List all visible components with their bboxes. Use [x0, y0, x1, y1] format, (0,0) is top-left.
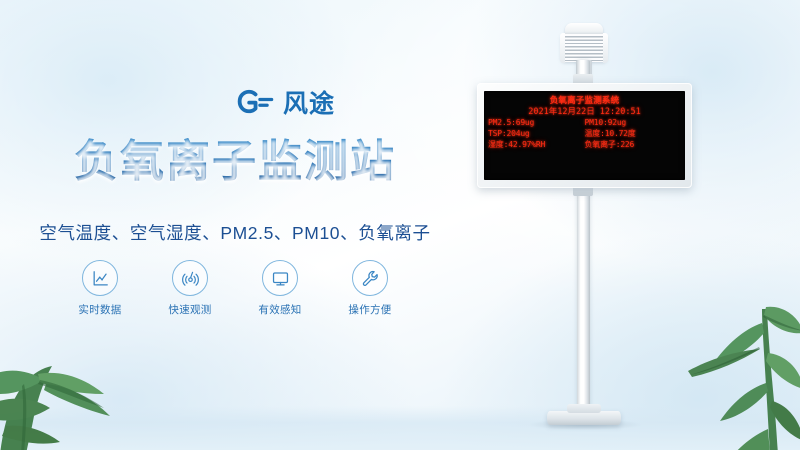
feature-item-realtime-data[interactable]: 实时数据 — [71, 260, 129, 317]
feature-label: 操作方便 — [341, 302, 399, 317]
wrench-icon — [352, 260, 388, 296]
radar-signal-icon — [172, 260, 208, 296]
brand-name: 风途 — [283, 92, 335, 117]
led-value-pm25: PM2.5:69ug — [488, 118, 585, 127]
led-readout-rows: PM2.5:69ug PM10:92ug TSP:204ug 温度:10.72度… — [488, 117, 681, 150]
feature-label: 快速观测 — [161, 302, 219, 317]
led-display-frame: 负氧离子监测系统 2021年12月22日 12:20:51 PM2.5:69ug… — [477, 83, 692, 188]
led-value-pm10: PM10:92ug — [585, 118, 682, 127]
feature-list: 实时数据 快速观测 — [0, 260, 470, 317]
feature-item-fast-observation[interactable]: 快速观测 — [161, 260, 219, 317]
led-value-temperature: 温度:10.72度 — [585, 128, 682, 139]
monitor-screen-icon — [262, 260, 298, 296]
led-value-negative-oxygen-ions: 负氧离子:226 — [585, 139, 682, 150]
led-value-humidity: 湿度:42.97%RH — [488, 139, 585, 150]
base-plate-icon — [547, 411, 621, 425]
feature-item-effective-sensing[interactable]: 有效感知 — [251, 260, 309, 317]
monitoring-station-product: 负氧离子监测系统 2021年12月22日 12:20:51 PM2.5:69ug… — [455, 0, 800, 450]
feature-label: 有效感知 — [251, 302, 309, 317]
poster-stage: 风途 负氧离子监测站 空气温度、空气湿度、PM2.5、PM10、负氧离子 实时数… — [0, 0, 800, 450]
led-readout-row: 湿度:42.97%RH 负氧离子:226 — [488, 139, 681, 150]
page-title: 负氧离子监测站 — [0, 138, 470, 186]
page-subtitle: 空气温度、空气湿度、PM2.5、PM10、负氧离子 — [0, 220, 470, 245]
led-display-screen[interactable]: 负氧离子监测系统 2021年12月22日 12:20:51 PM2.5:69ug… — [484, 91, 685, 180]
chart-line-icon — [82, 260, 118, 296]
led-value-tsp: TSP:204ug — [488, 129, 585, 138]
led-readout-row: PM2.5:69ug PM10:92ug — [488, 117, 681, 128]
led-readout-row: TSP:204ug 温度:10.72度 — [488, 128, 681, 139]
fengtu-logo-icon — [236, 88, 276, 120]
brand-lockup: 风途 — [236, 88, 335, 120]
feature-item-easy-operation[interactable]: 操作方便 — [341, 260, 399, 317]
feature-label: 实时数据 — [71, 302, 129, 317]
sensor-louvers — [561, 34, 607, 62]
left-content-panel: 风途 负氧离子监测站 空气温度、空气湿度、PM2.5、PM10、负氧离子 实时数… — [0, 0, 470, 450]
led-display-datetime: 2021年12月22日 12:20:51 — [484, 105, 685, 117]
